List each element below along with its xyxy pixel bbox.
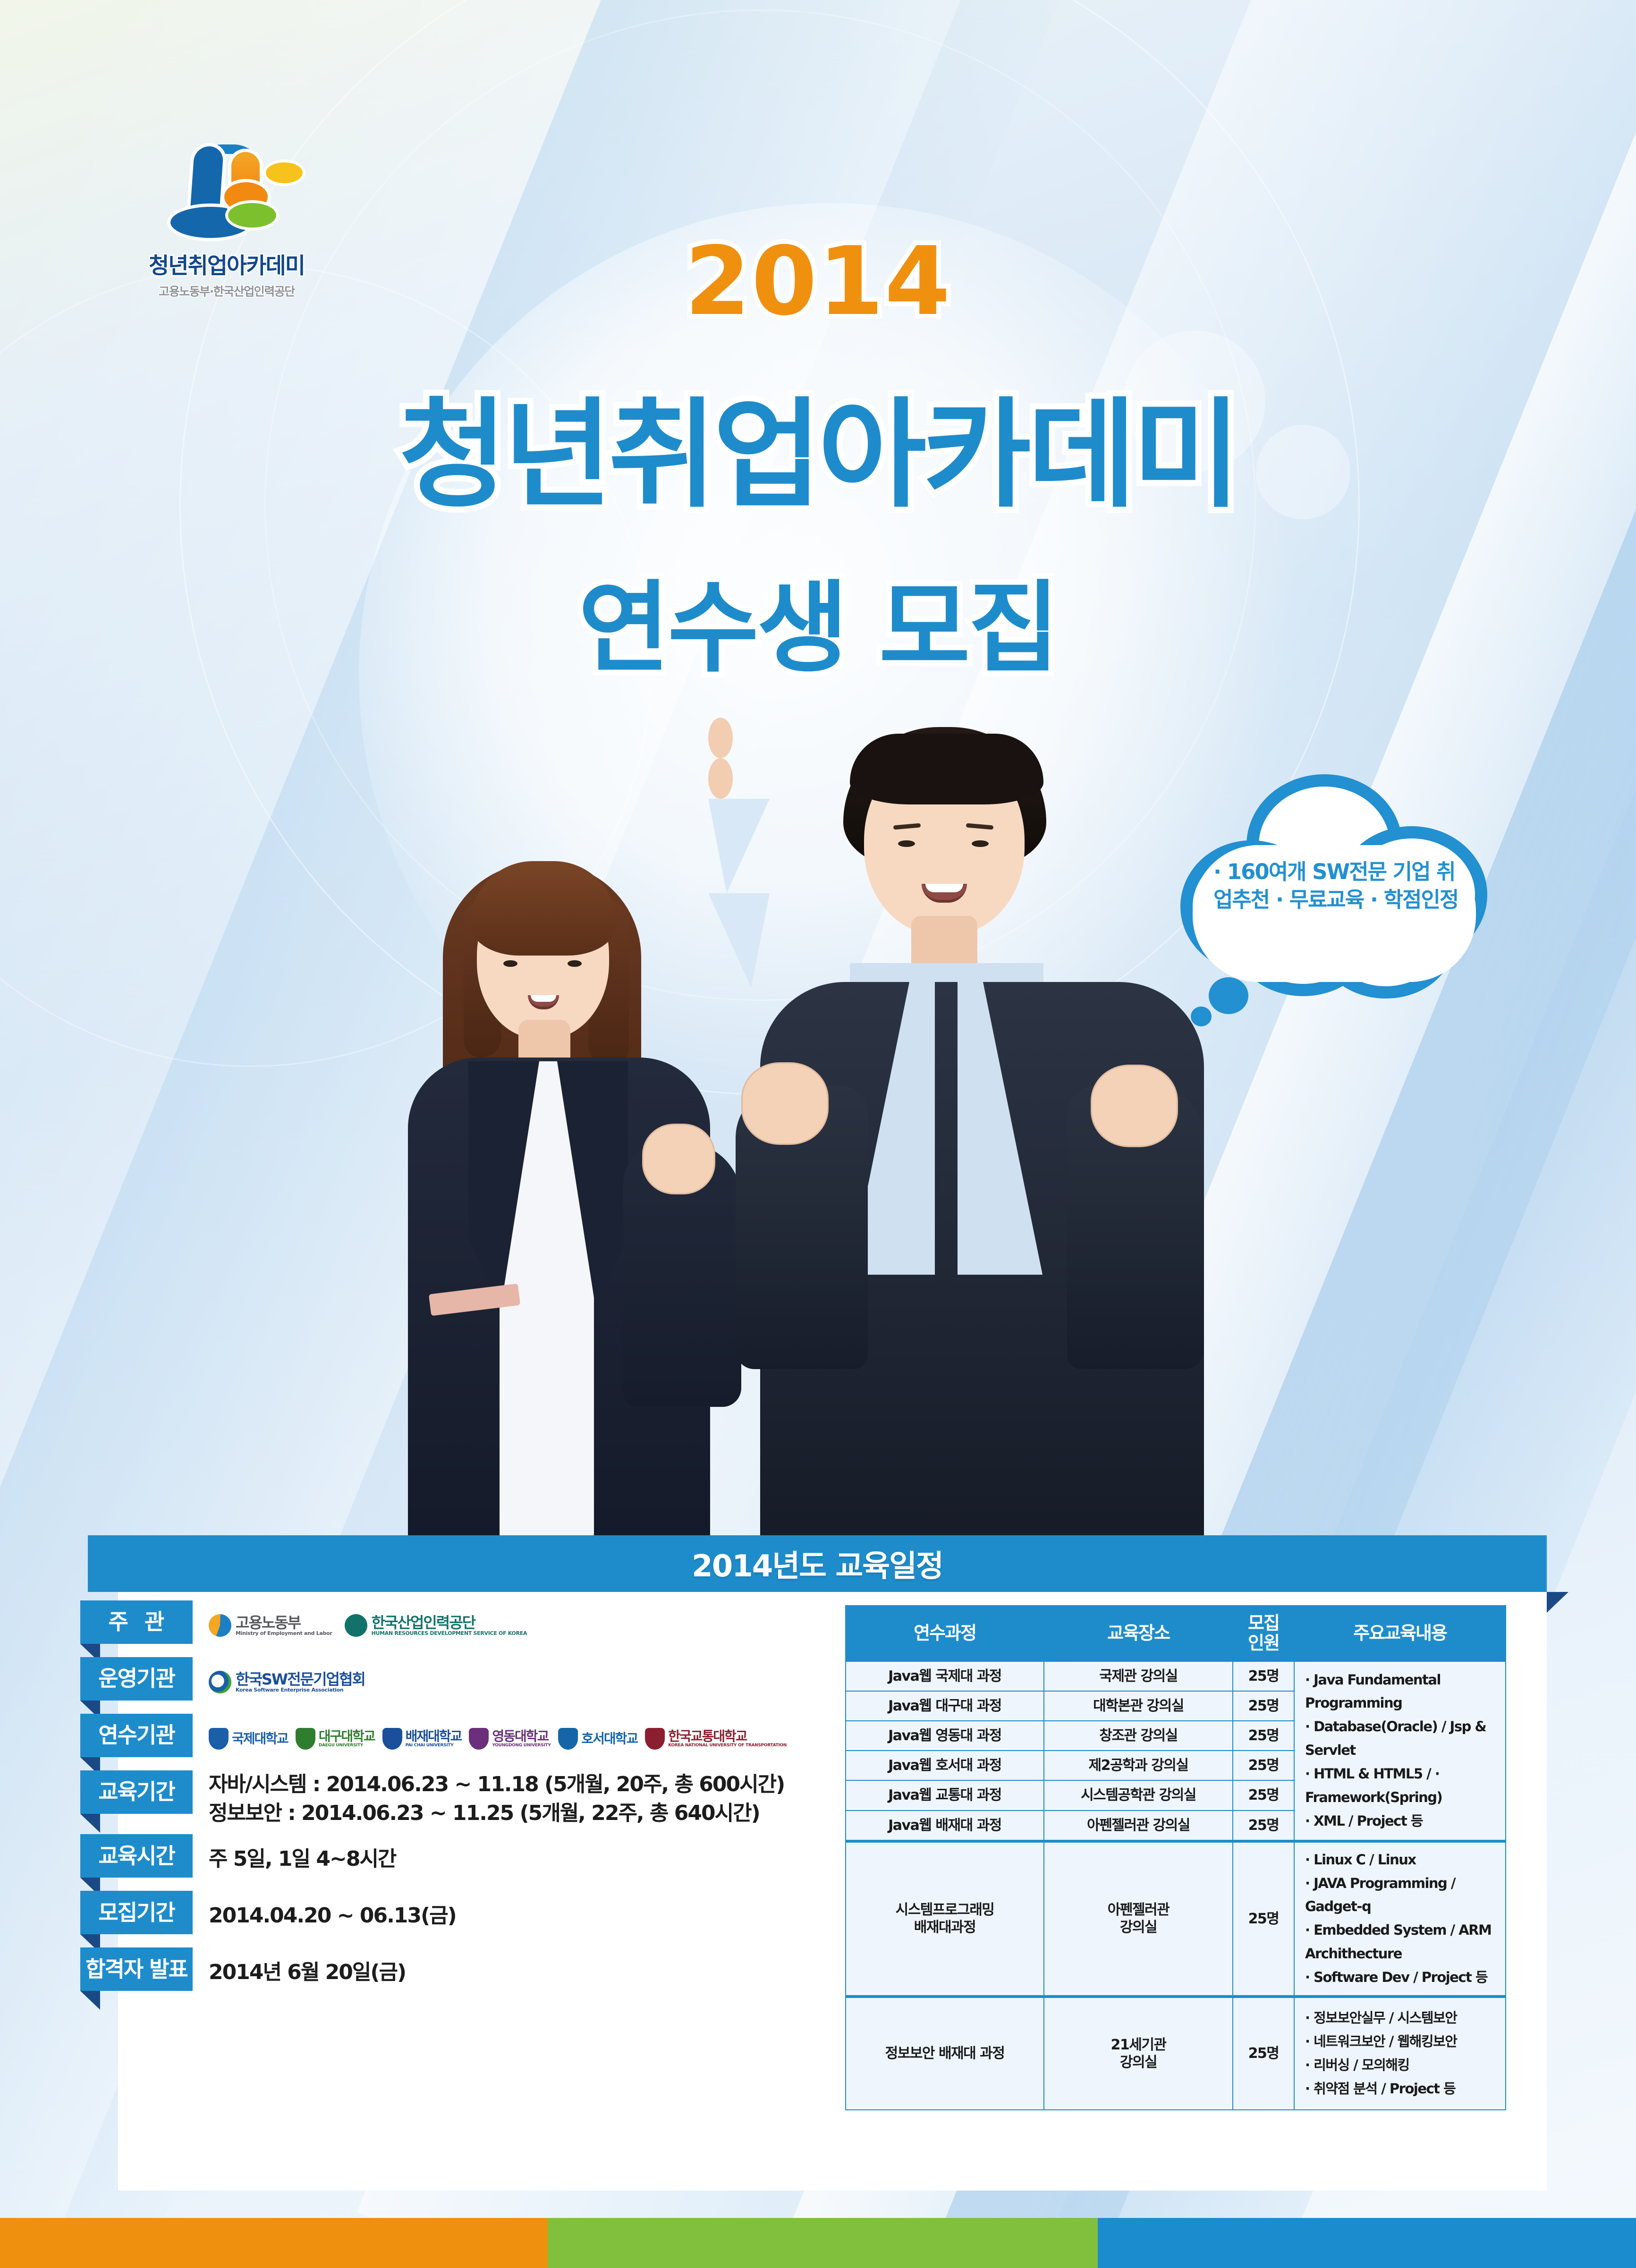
university-crest-icon bbox=[469, 1728, 489, 1750]
banner-fold-corner bbox=[1547, 1592, 1568, 1613]
university-name-kr: 배재대학교 bbox=[406, 1730, 462, 1743]
university-name-kr: 대구대학교 bbox=[319, 1730, 375, 1743]
info-row: 모집기간2014.04.20 ~ 06.13(금) bbox=[80, 1891, 817, 1941]
cell-course: Java웹 호서대 과정 bbox=[846, 1751, 1044, 1780]
cell-place: 아펜젤러관 강의실 bbox=[1044, 1841, 1233, 1997]
university-name-en: KOREA NATIONAL UNIVERSITY OF TRANSPORTAT… bbox=[668, 1743, 787, 1748]
table-column-header: 연수과정 bbox=[846, 1606, 1044, 1661]
table-body: Java웹 국제대 과정국제관 강의실25명· Java Fundamental… bbox=[846, 1661, 1506, 2110]
info-row-text: 2014.04.20 ~ 06.13(금) bbox=[209, 1902, 456, 1930]
cell-place: 21세기관 강의실 bbox=[1044, 1997, 1233, 2110]
info-tab-fold bbox=[80, 1991, 100, 2010]
table-column-header: 주요교육내용 bbox=[1294, 1606, 1506, 1661]
cell-course: Java웹 교통대 과정 bbox=[846, 1780, 1044, 1810]
info-row-label: 교육시간 bbox=[80, 1834, 193, 1878]
cell-course: 시스템프로그래밍 배재대과정 bbox=[846, 1841, 1044, 1997]
university-name-en: DAEGU UNIVERSITY bbox=[319, 1743, 375, 1748]
partner-logo: 고용노동부Ministry of Employment and Labor bbox=[209, 1614, 332, 1637]
partner-logo-row: 한국SW전문기업협회Korea Software Enterprise Asso… bbox=[209, 1671, 365, 1693]
partner-logo: 한국산업인력공단HUMAN RESOURCES DEVELOPMENT SERV… bbox=[345, 1614, 527, 1637]
partner-name-en: Korea Software Enterprise Association bbox=[236, 1687, 365, 1693]
cell-quota: 25명 bbox=[1233, 1780, 1294, 1810]
cell-quota: 25명 bbox=[1233, 1811, 1294, 1841]
info-row-label: 주관 bbox=[80, 1600, 193, 1644]
university-name-kr: 한국교통대학교 bbox=[668, 1730, 787, 1743]
info-row-value: 2014.04.20 ~ 06.13(금) bbox=[193, 1891, 817, 1941]
partner-logo-row: 고용노동부Ministry of Employment and Labor한국산… bbox=[209, 1614, 527, 1637]
table-row: 정보보안 배재대 과정21세기관 강의실25명· 정보보안실무 / 시스템보안 … bbox=[846, 1997, 1506, 2110]
table-column-header: 모집 인원 bbox=[1233, 1606, 1294, 1661]
partner-name-en: Ministry of Employment and Labor bbox=[236, 1631, 332, 1636]
info-row: 주관고용노동부Ministry of Employment and Labor한… bbox=[80, 1600, 817, 1650]
hero-year: 2014 bbox=[0, 227, 1636, 337]
info-row-text: 주 5일, 1일 4~8시간 bbox=[209, 1845, 396, 1874]
info-row-label: 교육기간 bbox=[80, 1770, 193, 1814]
info-row-value: 주 5일, 1일 4~8시간 bbox=[193, 1834, 817, 1884]
partner-name-kr: 고용노동부 bbox=[236, 1615, 332, 1631]
partner-name-kr: 한국SW전문기업협회 bbox=[236, 1672, 365, 1687]
info-row-value: 2014년 6월 20일(금) bbox=[193, 1947, 817, 1997]
schedule-banner: 2014년도 교육일정 bbox=[88, 1535, 1547, 1592]
university-logo: 배재대학교PAI CHAI UNIVERSITY bbox=[382, 1728, 462, 1750]
info-row-label-tab: 교육시간 bbox=[80, 1834, 193, 1878]
university-name-kr: 국제대학교 bbox=[232, 1732, 288, 1746]
partner-logo-icon bbox=[209, 1614, 231, 1637]
cell-course: Java웹 배재대 과정 bbox=[846, 1811, 1044, 1841]
info-row: 교육기간자바/시스템 : 2014.06.23 ~ 11.18 (5개월, 20… bbox=[80, 1770, 817, 1828]
university-name-en: PAI CHAI UNIVERSITY bbox=[406, 1743, 462, 1748]
info-row-label-tab: 연수기관 bbox=[80, 1714, 193, 1757]
university-crest-icon bbox=[382, 1728, 402, 1750]
bubble-tail-small bbox=[1191, 1007, 1212, 1026]
cell-quota: 25명 bbox=[1233, 1661, 1294, 1691]
cell-place: 대학본관 강의실 bbox=[1044, 1691, 1233, 1721]
university-crest-icon bbox=[645, 1728, 665, 1750]
partner-logo-icon bbox=[345, 1614, 367, 1637]
cell-quota: 25명 bbox=[1233, 1751, 1294, 1780]
footer-bar-blue bbox=[1098, 2218, 1636, 2268]
table-row: Java웹 국제대 과정국제관 강의실25명· Java Fundamental… bbox=[846, 1661, 1506, 1691]
cell-curriculum: · 정보보안실무 / 시스템보안 · 네트워크보안 / 웹해킹보안 · 리버싱 … bbox=[1294, 1997, 1506, 2110]
cell-quota: 25명 bbox=[1233, 1997, 1294, 2110]
info-row-label-tab: 주관 bbox=[80, 1600, 193, 1644]
cell-course: 정보보안 배재대 과정 bbox=[846, 1997, 1044, 2110]
info-row: 교육시간주 5일, 1일 4~8시간 bbox=[80, 1834, 817, 1884]
info-row-label: 운영기관 bbox=[80, 1657, 193, 1701]
benefits-text: · 160여개 SW전문 기업 취업추천 · 무료교육 · 학점인정 bbox=[1213, 858, 1468, 914]
cell-course: Java웹 영동대 과정 bbox=[846, 1721, 1044, 1751]
university-crest-icon bbox=[296, 1728, 315, 1750]
partner-logo-icon bbox=[209, 1671, 231, 1693]
footer-bar-orange bbox=[0, 2218, 548, 2268]
info-panel: 주관고용노동부Ministry of Employment and Labor한… bbox=[80, 1600, 817, 2004]
info-row-label-tab: 모집기간 bbox=[80, 1891, 193, 1934]
university-logo: 국제대학교 bbox=[209, 1728, 288, 1750]
info-row-label-tab: 운영기관 bbox=[80, 1657, 193, 1701]
table-row: 시스템프로그래밍 배재대과정아펜젤러관 강의실25명· Linux C / Li… bbox=[846, 1841, 1506, 1997]
info-row-label-tab: 합격자 발표 bbox=[80, 1947, 193, 1991]
footer-bar-green bbox=[548, 2218, 1098, 2268]
info-row-label: 모집기간 bbox=[80, 1891, 193, 1934]
university-logo: 한국교통대학교KOREA NATIONAL UNIVERSITY OF TRAN… bbox=[645, 1728, 787, 1750]
university-logo: 호서대학교 bbox=[558, 1728, 637, 1750]
cell-curriculum: · Linux C / Linux · JAVA Programming / G… bbox=[1294, 1841, 1506, 1997]
table-head: 연수과정교육장소모집 인원주요교육내용 bbox=[846, 1606, 1506, 1661]
info-row-text: 자바/시스템 : 2014.06.23 ~ 11.18 (5개월, 20주, 총… bbox=[209, 1770, 784, 1828]
hero-title-line2: 연수생 모집 bbox=[0, 548, 1636, 691]
university-logo: 영동대학교YOUNGDONG UNIVERSITY bbox=[469, 1728, 551, 1750]
partner-logo: 한국SW전문기업협회Korea Software Enterprise Asso… bbox=[209, 1671, 365, 1693]
university-name-kr: 영동대학교 bbox=[492, 1730, 551, 1743]
cell-place: 국제관 강의실 bbox=[1044, 1661, 1233, 1691]
university-name-kr: 호서대학교 bbox=[581, 1732, 637, 1746]
info-row-value: 한국SW전문기업협회Korea Software Enterprise Asso… bbox=[193, 1657, 817, 1707]
university-name-en: YOUNGDONG UNIVERSITY bbox=[492, 1743, 551, 1748]
schedule-table: 연수과정교육장소모집 인원주요교육내용 Java웹 국제대 과정국제관 강의실2… bbox=[845, 1605, 1506, 2110]
info-row-value: 국제대학교대구대학교DAEGU UNIVERSITY배재대학교PAI CHAI … bbox=[193, 1714, 817, 1764]
cell-course: Java웹 대구대 과정 bbox=[846, 1691, 1044, 1721]
info-row-text: 2014년 6월 20일(금) bbox=[209, 1958, 406, 1987]
info-row-label-tab: 교육기간 bbox=[80, 1770, 193, 1814]
university-logo: 대구대학교DAEGU UNIVERSITY bbox=[296, 1728, 375, 1750]
cell-quota: 25명 bbox=[1233, 1691, 1294, 1721]
table-column-header: 교육장소 bbox=[1044, 1606, 1233, 1661]
poster-root: 청년취업아카데미 고용노동부·한국산업인력공단 2014 청년취업아카데미 연수… bbox=[0, 0, 1636, 2268]
schedule-banner-title: 2014년도 교육일정 bbox=[692, 1542, 943, 1585]
info-row-value: 고용노동부Ministry of Employment and Labor한국산… bbox=[193, 1600, 817, 1650]
bubble-tail-large bbox=[1209, 977, 1248, 1014]
info-tab-fold bbox=[80, 1814, 100, 1833]
benefits-thought-bubble: · 160여개 SW전문 기업 취업추천 · 무료교육 · 학점인정 bbox=[1180, 774, 1492, 1020]
cell-course: Java웹 국제대 과정 bbox=[846, 1661, 1044, 1691]
cell-quota: 25명 bbox=[1233, 1721, 1294, 1751]
info-row-label: 합격자 발표 bbox=[80, 1947, 193, 1991]
info-row: 연수기관국제대학교대구대학교DAEGU UNIVERSITY배재대학교PAI C… bbox=[80, 1714, 817, 1764]
footer-color-bars bbox=[0, 2218, 1636, 2268]
university-crest-icon bbox=[209, 1728, 229, 1750]
cell-place: 창조관 강의실 bbox=[1044, 1721, 1233, 1751]
cell-quota: 25명 bbox=[1233, 1841, 1294, 1997]
university-logo-row: 국제대학교대구대학교DAEGU UNIVERSITY배재대학교PAI CHAI … bbox=[209, 1728, 787, 1750]
cell-place: 아펜젤러관 강의실 bbox=[1044, 1811, 1233, 1841]
table-header-row: 연수과정교육장소모집 인원주요교육내용 bbox=[846, 1606, 1506, 1661]
hero-title-line1: 청년취업아카데미 bbox=[0, 359, 1636, 530]
cell-curriculum: · Java Fundamental Programming · Databas… bbox=[1294, 1661, 1506, 1841]
info-row: 운영기관한국SW전문기업협회Korea Software Enterprise … bbox=[80, 1657, 817, 1707]
cell-place: 제2공학과 강의실 bbox=[1044, 1751, 1233, 1780]
cell-place: 시스템공학관 강의실 bbox=[1044, 1780, 1233, 1810]
university-crest-icon bbox=[558, 1728, 578, 1750]
info-row-value: 자바/시스템 : 2014.06.23 ~ 11.18 (5개월, 20주, 총… bbox=[193, 1770, 817, 1828]
partner-name-en: HUMAN RESOURCES DEVELOPMENT SERVICE OF K… bbox=[372, 1631, 527, 1636]
person-female bbox=[359, 812, 765, 1549]
info-row-label: 연수기관 bbox=[80, 1714, 193, 1757]
partner-name-kr: 한국산업인력공단 bbox=[372, 1615, 527, 1631]
people-photo bbox=[359, 718, 1256, 1549]
person-male bbox=[708, 718, 1256, 1549]
info-row: 합격자 발표2014년 6월 20일(금) bbox=[80, 1947, 817, 1997]
